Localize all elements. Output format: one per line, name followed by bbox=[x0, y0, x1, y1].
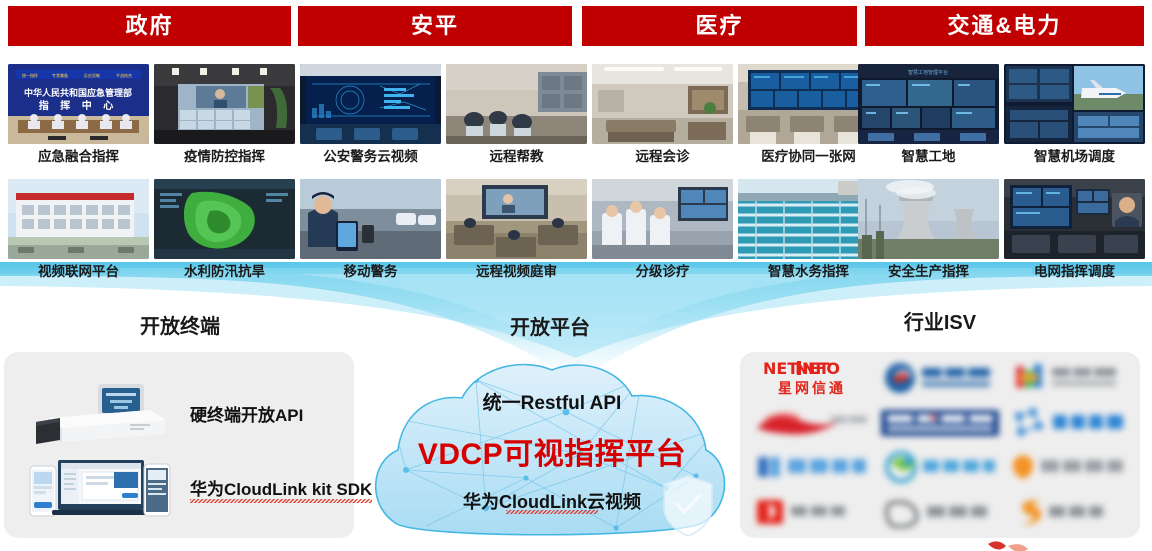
solution-label: 移动警务 bbox=[300, 265, 441, 280]
solution-thumbnail bbox=[446, 179, 587, 259]
solution-thumbnail bbox=[300, 179, 441, 259]
solution-card[interactable]: 远程帮教 bbox=[446, 64, 587, 165]
cropped-corner-graphic bbox=[982, 538, 1042, 551]
solution-card[interactable]: 电网指挥调度 bbox=[1004, 179, 1145, 280]
terminal-label: 硬终端开放API bbox=[190, 401, 303, 426]
solution-card[interactable]: 疫情防控指挥 bbox=[154, 64, 295, 165]
svg-text:NET: NET bbox=[763, 359, 798, 378]
solution-label: 分级诊疗 bbox=[592, 265, 733, 280]
solution-label: 智慧工地 bbox=[858, 150, 999, 165]
isv-logo-partner-2[interactable] bbox=[876, 356, 1004, 401]
isv-logo-partner-8[interactable] bbox=[876, 445, 1004, 490]
solution-card[interactable]: 远程视频庭审 bbox=[446, 179, 587, 280]
solution-thumbnail bbox=[154, 179, 295, 259]
category-label: 交通&电力 bbox=[948, 15, 1062, 37]
solution-label: 水利防汛抗旱 bbox=[154, 265, 295, 280]
solution-label: 远程帮教 bbox=[446, 150, 587, 165]
isv-logo-netinfo[interactable]: NET NET NFO 星网信通 bbox=[748, 356, 876, 401]
solution-card[interactable]: 安全生产指挥 bbox=[858, 179, 999, 280]
platform-product-name: 华为CloudLink云视频 bbox=[366, 493, 738, 511]
isv-logo-partner-11[interactable] bbox=[876, 490, 1004, 535]
solution-label: 远程视频庭审 bbox=[446, 265, 587, 280]
svg-text:星网信通: 星网信通 bbox=[778, 380, 846, 397]
solution-thumbnail bbox=[8, 179, 149, 259]
svg-text:NFO: NFO bbox=[802, 359, 840, 378]
isv-logo-partner-12[interactable] bbox=[1004, 490, 1132, 535]
category-label: 安平 bbox=[411, 15, 459, 37]
solution-thumbnail: 统一指挥专常兼备反应灵敏平战结合 中华人民共和国应急管理部 指 挥 中 心 bbox=[8, 64, 149, 144]
category-banner-healthcare[interactable]: 医疗 bbox=[582, 6, 857, 46]
section-heading-platform: 开放平台 bbox=[430, 318, 670, 338]
solution-card[interactable]: 智慧工地管理平台 智慧工地 bbox=[858, 64, 999, 165]
solution-card[interactable]: 公安警务云视频 bbox=[300, 64, 441, 165]
solution-thumbnail bbox=[858, 179, 999, 259]
solution-thumbnail bbox=[300, 64, 441, 144]
svg-text:智慧工地管理平台: 智慧工地管理平台 bbox=[908, 69, 948, 76]
platform-title: VDCP可视指挥平台 bbox=[366, 440, 738, 470]
svg-text:指 挥 中 心: 指 挥 中 心 bbox=[39, 99, 117, 112]
svg-text:反应灵敏: 反应灵敏 bbox=[84, 72, 100, 78]
solution-card[interactable]: 水利防汛抗旱 bbox=[154, 179, 295, 280]
spellcheck-underline bbox=[190, 499, 372, 503]
solution-card[interactable]: 远程会诊 bbox=[592, 64, 733, 165]
section-heading-isv: 行业ISV bbox=[820, 313, 1060, 333]
solution-thumbnail bbox=[592, 179, 733, 259]
section-heading-terminals: 开放终端 bbox=[60, 317, 300, 337]
solution-label: 疫情防控指挥 bbox=[154, 150, 295, 165]
solution-label: 应急融合指挥 bbox=[8, 150, 149, 165]
terminal-item-cloudlink-sdk[interactable]: 华为CloudLink kit SDK bbox=[26, 452, 372, 522]
solution-label: 电网指挥调度 bbox=[1004, 265, 1145, 280]
solution-thumbnail bbox=[1004, 64, 1145, 144]
svg-text:平战结合: 平战结合 bbox=[116, 72, 132, 78]
svg-text:中华人民共和国应急管理部: 中华人民共和国应急管理部 bbox=[24, 87, 132, 99]
svg-text:专常兼备: 专常兼备 bbox=[52, 72, 68, 78]
solution-card[interactable]: 统一指挥专常兼备反应灵敏平战结合 中华人民共和国应急管理部 指 挥 中 心 应急… bbox=[8, 64, 149, 165]
category-banner-government[interactable]: 政府 bbox=[8, 6, 291, 46]
solution-card[interactable]: 智慧机场调度 bbox=[1004, 64, 1145, 165]
svg-text:统一指挥: 统一指挥 bbox=[22, 72, 38, 78]
solution-thumbnail bbox=[446, 64, 587, 144]
platform-api-text: 统一Restful API bbox=[366, 394, 738, 413]
isv-logo-grid: NET NET NFO 星网信通 bbox=[748, 356, 1132, 534]
solution-thumbnail: 智慧工地管理平台 bbox=[858, 64, 999, 144]
solution-thumbnail bbox=[154, 64, 295, 144]
category-label: 政府 bbox=[125, 15, 173, 37]
solution-thumbnail bbox=[1004, 179, 1145, 259]
isv-logo-partner-7[interactable] bbox=[748, 445, 876, 490]
solution-label: 视频联网平台 bbox=[8, 265, 149, 280]
terminal-label: 华为CloudLink kit SDK bbox=[190, 475, 372, 500]
isv-logo-partner-6[interactable] bbox=[1004, 401, 1132, 446]
category-banner-public-safety[interactable]: 安平 bbox=[298, 6, 572, 46]
solution-label: 安全生产指挥 bbox=[858, 265, 999, 280]
isv-logo-partner-9[interactable] bbox=[1004, 445, 1132, 490]
laptop-and-phones-icon bbox=[26, 452, 176, 522]
isv-logo-partner-5[interactable] bbox=[876, 401, 1004, 446]
solution-card[interactable]: 移动警务 bbox=[300, 179, 441, 280]
isv-logo-partner-10[interactable] bbox=[748, 490, 876, 535]
isv-logo-partner-4[interactable] bbox=[748, 401, 876, 446]
terminal-item-hard-terminal[interactable]: 硬终端开放API bbox=[26, 378, 303, 448]
solution-card[interactable]: 分级诊疗 bbox=[592, 179, 733, 280]
solution-label: 智慧机场调度 bbox=[1004, 150, 1145, 165]
solution-card[interactable]: 视频联网平台 bbox=[8, 179, 149, 280]
solution-label: 远程会诊 bbox=[592, 150, 733, 165]
videobar-and-touchpanel-icon bbox=[26, 378, 176, 448]
solution-thumbnail bbox=[592, 64, 733, 144]
category-label: 医疗 bbox=[695, 15, 743, 37]
slide-canvas: 政府 安平 医疗 交通&电力 统一指挥专常兼备反应灵敏平战结合 中华人民共和国应… bbox=[0, 0, 1152, 551]
open-platform-cloud: 统一Restful API VDCP可视指挥平台 华为CloudLink云视频 bbox=[366, 358, 738, 551]
category-banner-transport-power[interactable]: 交通&电力 bbox=[865, 6, 1144, 46]
solution-label: 公安警务云视频 bbox=[300, 150, 441, 165]
isv-logo-partner-3[interactable] bbox=[1004, 356, 1132, 401]
